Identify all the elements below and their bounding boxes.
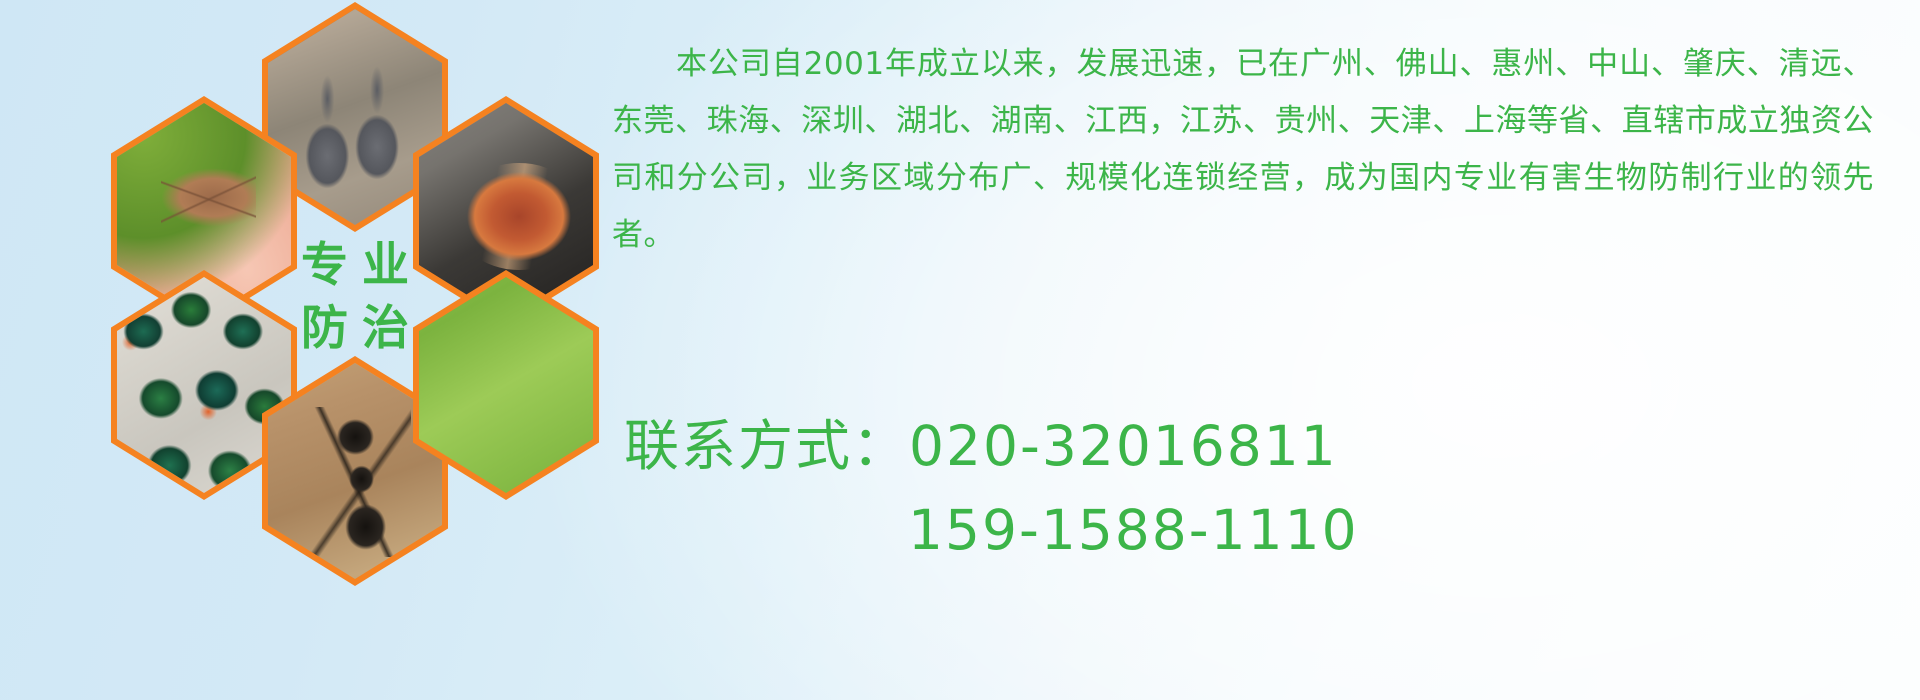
company-intro-block: 本公司自2001年成立以来，发展迅速，已在广州、佛山、惠州、中山、肇庆、清远、东… [612,36,1874,264]
contact-mobile-row: 159-1588-1110 [624,488,1904,572]
slogan-line-2: 防治 [287,305,423,352]
hex-cell-slogan: 专业 防治 [262,182,448,412]
honeycomb-collage: 专业 防治 [88,0,588,554]
contact-phone-mobile[interactable]: 159-1588-1110 [908,498,1359,562]
slogan-line-1: 专业 [287,242,423,289]
promo-banner: 专业 防治 本公司自2001年成立以来，发展迅速，已在广州、佛山、惠州、中山、肇… [0,0,1920,700]
contact-label: 联系方式： [624,414,909,478]
contact-phone-landline[interactable]: 020-32016811 [909,414,1338,478]
contact-landline-row: 联系方式：020-32016811 [624,404,1904,488]
contact-block: 联系方式：020-32016811 159-1588-1110 [624,404,1904,572]
company-intro-paragraph: 本公司自2001年成立以来，发展迅速，已在广州、佛山、惠州、中山、肇庆、清远、东… [612,36,1874,264]
